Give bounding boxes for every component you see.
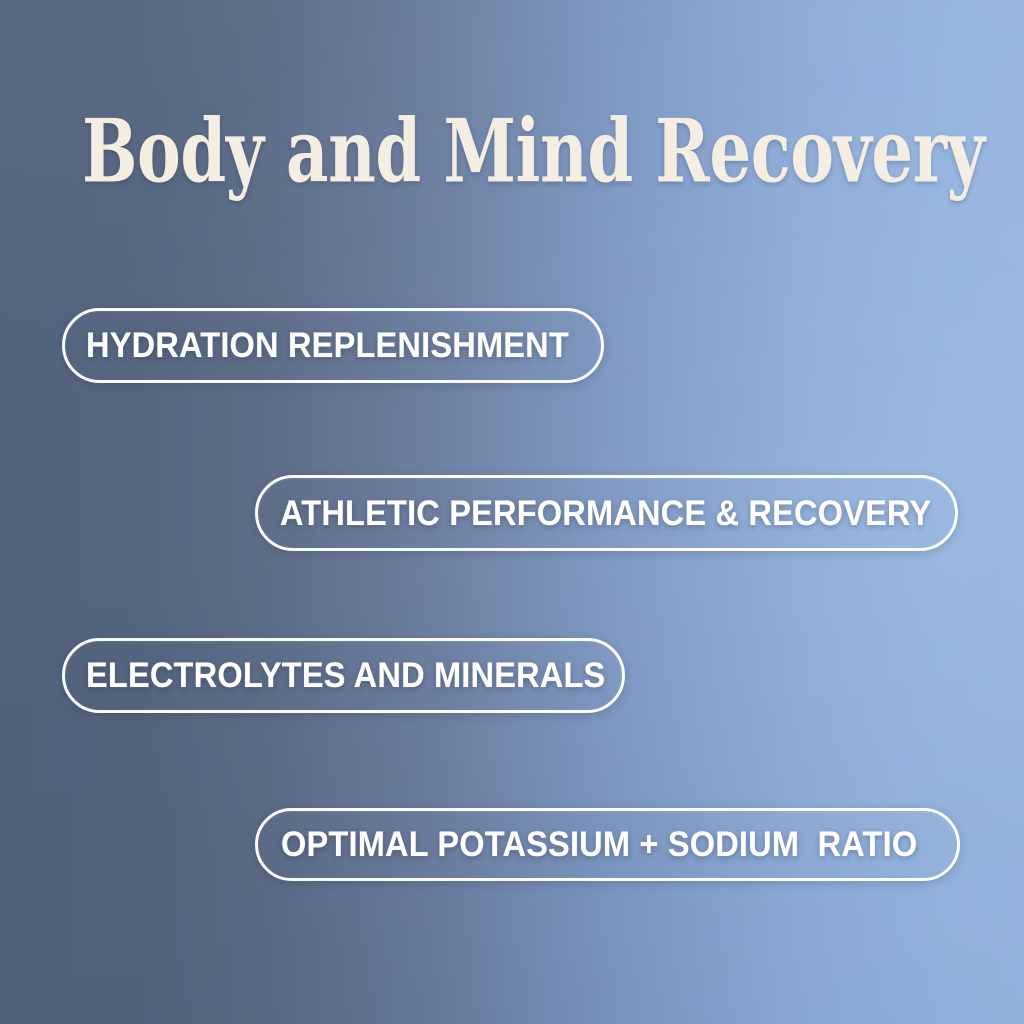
poster-title-text: Body and Mind Recovery [82,109,985,196]
benefit-pill-label: HYDRATION REPLENISHMENT [86,328,569,363]
poster-canvas: Body and Mind Recovery HYDRATION REPLENI… [0,0,1024,1024]
benefit-pill-ratio[interactable]: OPTIMAL POTASSIUM + SODIUM RATIO [255,808,960,881]
benefit-pill-label: ATHLETIC PERFORMANCE & RECOVERY [280,496,931,531]
page-title: Body and Mind Recovery [82,104,962,200]
benefit-pill-electrolytes[interactable]: ELECTROLYTES AND MINERALS [62,638,625,713]
benefit-pill-athletic[interactable]: ATHLETIC PERFORMANCE & RECOVERY [255,475,958,551]
benefit-pill-label: ELECTROLYTES AND MINERALS [86,658,605,693]
benefit-pill-label: OPTIMAL POTASSIUM + SODIUM RATIO [281,827,917,862]
benefit-pill-hydration[interactable]: HYDRATION REPLENISHMENT [62,308,604,383]
